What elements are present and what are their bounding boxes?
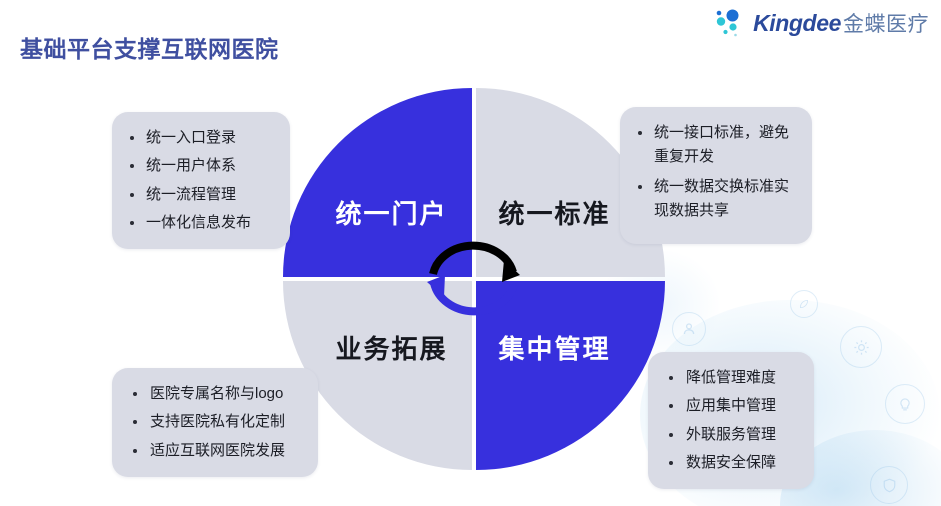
quadrant-label: 集中管理 (498, 329, 610, 366)
list-item: 应用集中管理 (664, 394, 800, 418)
quadrant-label: 业务拓展 (335, 329, 447, 366)
list-item: 统一接口标准，避免重复开发 (636, 121, 798, 168)
callout-list: 统一入口登录 统一用户体系 统一流程管理 一体化信息发布 (128, 126, 276, 235)
list-item: 降低管理难度 (664, 366, 800, 390)
clockwise-arc-arrow (433, 246, 520, 282)
callout-business-expansion: 医院专属名称与logo 支持医院私有化定制 适应互联网医院发展 (112, 368, 318, 477)
list-item: 医院专属名称与logo (128, 382, 304, 406)
list-item: 适应互联网医院发展 (128, 439, 304, 463)
shield-circle-watermark (870, 466, 908, 504)
gear-circle-watermark (840, 326, 882, 368)
logo-english-text: Kingdee (753, 10, 841, 37)
callout-centralized-management: 降低管理难度 应用集中管理 外联服务管理 数据安全保障 (648, 352, 814, 489)
four-quadrant-circle: 统一门户 统一标准 业务拓展 集中管理 (283, 88, 665, 470)
logo-wordmark: Kingdee 金蝶医疗 (753, 8, 929, 38)
quadrant-label: 统一标准 (498, 194, 610, 231)
list-item: 数据安全保障 (664, 451, 800, 475)
list-item: 支持医院私有化定制 (128, 410, 304, 434)
slide-canvas: 基础平台支撑互联网医院 Kingdee 金蝶医疗 统一门户 统一标准 业务拓展 (0, 0, 941, 506)
leaf-circle-watermark (790, 290, 818, 318)
kingdee-dots-icon (713, 8, 747, 38)
callout-unified-standard: 统一接口标准，避免重复开发 统一数据交换标准实现数据共享 (620, 107, 812, 244)
brand-logo: Kingdee 金蝶医疗 (713, 8, 929, 38)
callout-unified-portal: 统一入口登录 统一用户体系 统一流程管理 一体化信息发布 (112, 112, 290, 249)
callout-list: 医院专属名称与logo 支持医院私有化定制 适应互联网医院发展 (128, 382, 304, 463)
list-item: 统一流程管理 (128, 183, 276, 207)
counter-clockwise-arc-arrow (427, 275, 514, 311)
person-circle-watermark (672, 312, 706, 346)
list-item: 一体化信息发布 (128, 211, 276, 235)
quadrant-label: 统一门户 (335, 194, 447, 231)
callout-list: 降低管理难度 应用集中管理 外联服务管理 数据安全保障 (664, 366, 800, 475)
logo-chinese-text: 金蝶医疗 (843, 8, 929, 38)
list-item: 统一用户体系 (128, 154, 276, 178)
callout-list: 统一接口标准，避免重复开发 统一数据交换标准实现数据共享 (636, 121, 798, 223)
list-item: 统一数据交换标准实现数据共享 (636, 175, 798, 222)
list-item: 外联服务管理 (664, 423, 800, 447)
list-item: 统一入口登录 (128, 126, 276, 150)
bulb-circle-watermark (885, 384, 925, 424)
page-title: 基础平台支撑互联网医院 (20, 30, 279, 64)
center-cycle-arrows (414, 233, 534, 325)
